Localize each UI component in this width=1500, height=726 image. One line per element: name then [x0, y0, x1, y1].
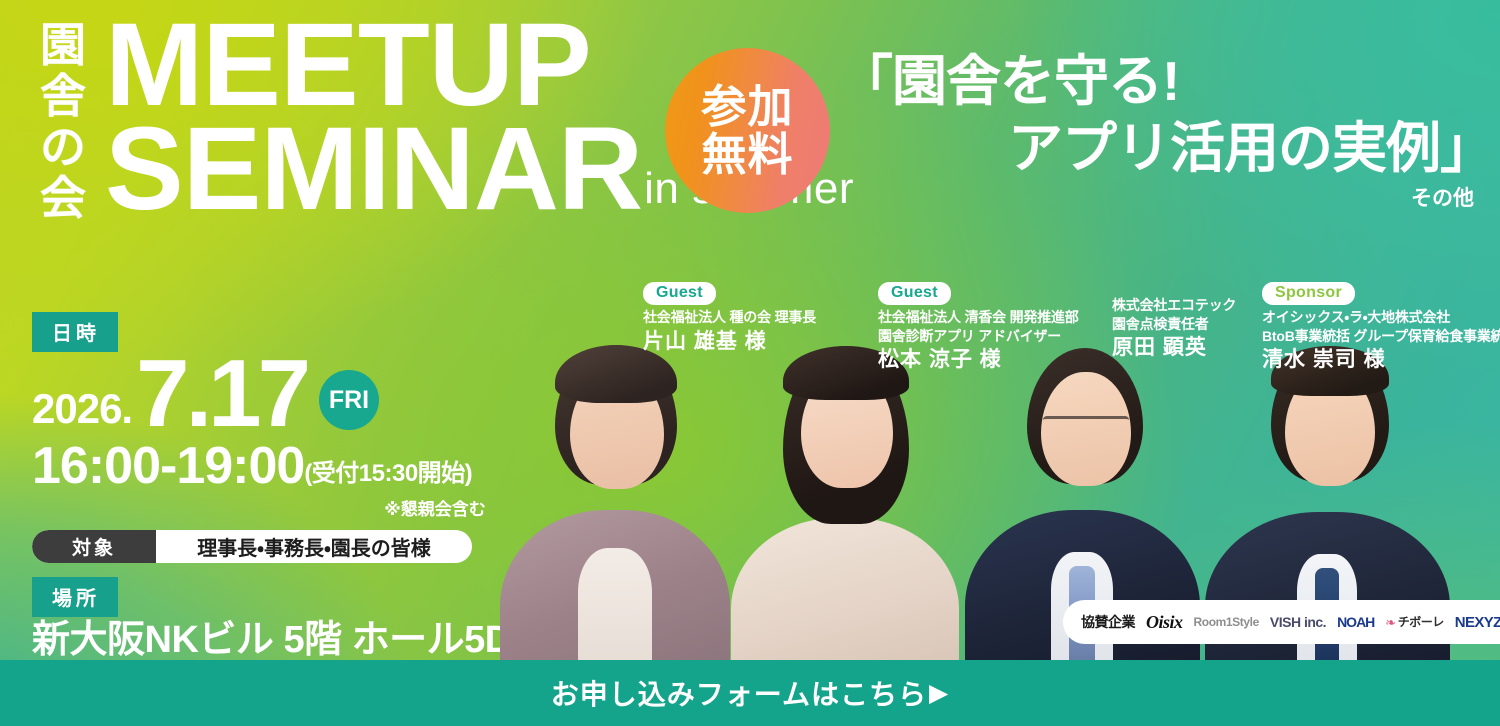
headline-line-1: 「園舎を守る! — [838, 48, 1498, 115]
speaker-1-name: 片山 雄基 様 — [643, 329, 816, 354]
sponsor-logo-vish[interactable]: VISH inc. — [1270, 615, 1326, 629]
sponsor-logo-noah[interactable]: NOAH — [1337, 615, 1374, 629]
arrow-right-icon: ▶ — [929, 681, 949, 706]
headline-line-2: アプリ活用の実例」 — [838, 115, 1498, 182]
speaker-captions: Guest 社会福祉法人 種の会 理事長 片山 雄基 様 Guest 社会福祉法… — [0, 282, 1500, 642]
speaker-3-org-line-1: 株式会社エコテック — [1112, 296, 1236, 315]
vertical-char-1: 園 — [40, 22, 86, 69]
sponsor-strip-label: 協賛企業 — [1081, 612, 1135, 632]
headline: 「園舎を守る! アプリ活用の実例」 その他 — [838, 48, 1498, 212]
sponsor-logo-nexyz[interactable]: NEXYZ. — [1455, 615, 1500, 630]
free-badge-line1: 参加 — [701, 83, 793, 131]
sponsor-logo-chibole-text: チボーレ — [1398, 616, 1444, 628]
speaker-2-name: 松本 涼子 様 — [878, 347, 1079, 372]
speaker-caption-1: Guest 社会福祉法人 種の会 理事長 片山 雄基 様 — [643, 282, 816, 354]
speaker-4-name: 清水 崇司 様 — [1262, 347, 1500, 372]
speaker-caption-4: Sponsor オイシックス・ラ・大地株式会社 BtoB事業統括 グループ保育給… — [1262, 282, 1500, 372]
speaker-4-badge: Sponsor — [1262, 282, 1355, 305]
vertical-char-4: 会 — [40, 175, 86, 222]
wordmark-seminar-text: SEMINAR — [105, 103, 642, 235]
sponsor-logo-chibole[interactable]: ❧チボーレ — [1385, 616, 1443, 629]
vertical-char-2: 舎 — [40, 73, 86, 120]
sponsor-logo-strip: 協賛企業 Oisix Room1Style VISH inc. NOAH ❧チボ… — [1063, 600, 1500, 644]
free-badge-line2: 無料 — [701, 131, 793, 179]
apply-form-cta-label: お申し込みフォームはこちら — [551, 673, 927, 713]
sponsor-logo-room1style[interactable]: Room1Style — [1194, 616, 1259, 628]
speaker-4-org-line-2: BtoB事業統括 グループ保育給食事業統括 — [1262, 327, 1500, 346]
speaker-2-badge: Guest — [878, 282, 951, 305]
chibole-mark-icon: ❧ — [1385, 616, 1395, 629]
vertical-char-3: の — [40, 124, 86, 171]
speaker-2-org-line-1: 社会福祉法人 清香会 開発推進部 — [878, 308, 1079, 327]
headline-note: その他 — [838, 186, 1498, 212]
apply-form-cta-text: お申し込みフォームはこちら ▶ — [551, 673, 949, 713]
speaker-caption-3: 株式会社エコテック 園舎点検責任者 原田 顕英 — [1112, 296, 1236, 360]
vertical-brand-title: 園 舎 の 会 — [30, 22, 96, 222]
speaker-4-org-line-1: オイシックス・ラ・大地株式会社 — [1262, 308, 1500, 327]
free-participation-badge: 参加 無料 — [665, 48, 830, 213]
speaker-1-org-line-1: 社会福祉法人 種の会 理事長 — [643, 308, 816, 327]
sponsor-logo-oisix[interactable]: Oisix — [1146, 613, 1183, 631]
speaker-1-badge: Guest — [643, 282, 716, 305]
apply-form-cta-bar[interactable]: お申し込みフォームはこちら ▶ — [0, 660, 1500, 726]
seminar-banner: 園 舎 の 会 MEETUP SEMINARin summer 参加 無料 「園… — [0, 0, 1500, 726]
speaker-3-name: 原田 顕英 — [1112, 335, 1236, 360]
speaker-caption-2: Guest 社会福祉法人 清香会 開発推進部 園舎診断アプリ アドバイザー 松本… — [878, 282, 1079, 372]
speaker-3-org-line-2: 園舎点検責任者 — [1112, 315, 1236, 334]
speaker-2-org-line-2: 園舎診断アプリ アドバイザー — [878, 327, 1079, 346]
